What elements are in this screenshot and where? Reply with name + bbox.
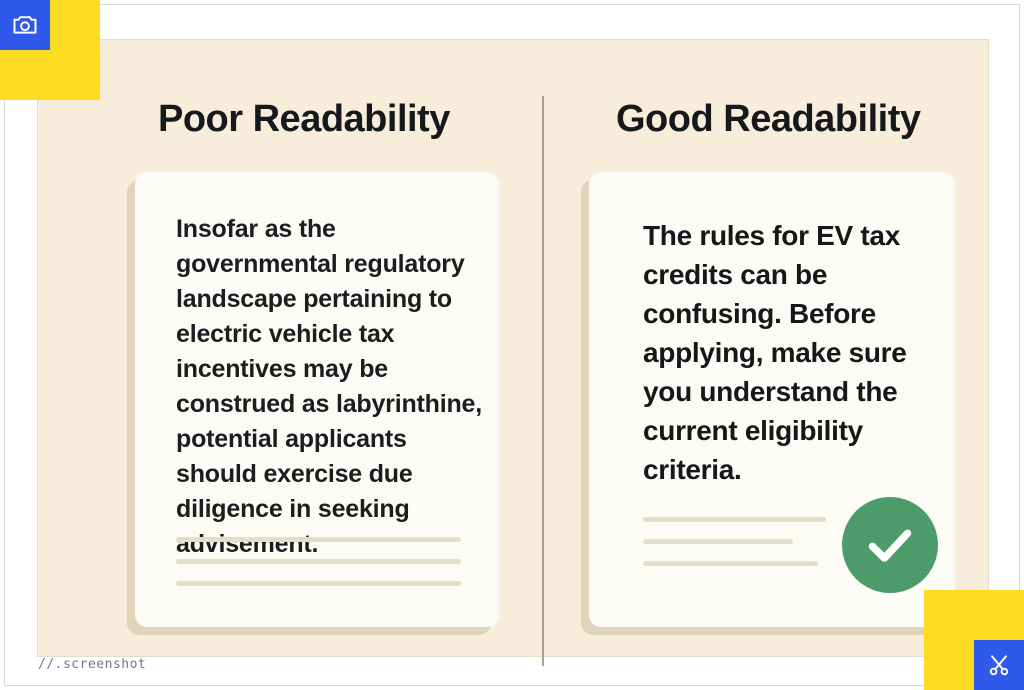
rule-line — [643, 517, 826, 522]
slide-canvas: Poor Readability Good Readability Insofa… — [37, 39, 989, 657]
column-divider — [542, 96, 544, 666]
crop-button[interactable] — [974, 640, 1024, 690]
rule-line — [643, 561, 818, 566]
scissors-icon — [986, 652, 1012, 678]
card-good-readability: The rules for EV tax credits can be conf… — [589, 172, 955, 627]
card-surface: The rules for EV tax credits can be conf… — [589, 172, 955, 627]
camera-button[interactable] — [0, 0, 50, 50]
paragraph-good: The rules for EV tax credits can be conf… — [643, 216, 933, 489]
rule-line — [176, 581, 461, 586]
check-circle-icon — [842, 497, 938, 593]
card-poor-readability: Insofar as the governmental regulatory l… — [135, 172, 499, 627]
camera-icon — [11, 11, 39, 39]
card-surface: Insofar as the governmental regulatory l… — [135, 172, 499, 627]
rule-line — [176, 559, 461, 564]
rule-line — [176, 537, 461, 542]
decorative-rules-poor — [176, 537, 461, 603]
rule-line — [643, 539, 793, 544]
paragraph-poor: Insofar as the governmental regulatory l… — [176, 212, 484, 562]
column-heading-poor: Poor Readability — [158, 98, 450, 141]
column-heading-good: Good Readability — [616, 98, 920, 141]
decorative-rules-good — [643, 517, 826, 583]
screenshot-frame: Poor Readability Good Readability Insofa… — [4, 4, 1020, 686]
caption-text: //.screenshot — [38, 657, 146, 672]
